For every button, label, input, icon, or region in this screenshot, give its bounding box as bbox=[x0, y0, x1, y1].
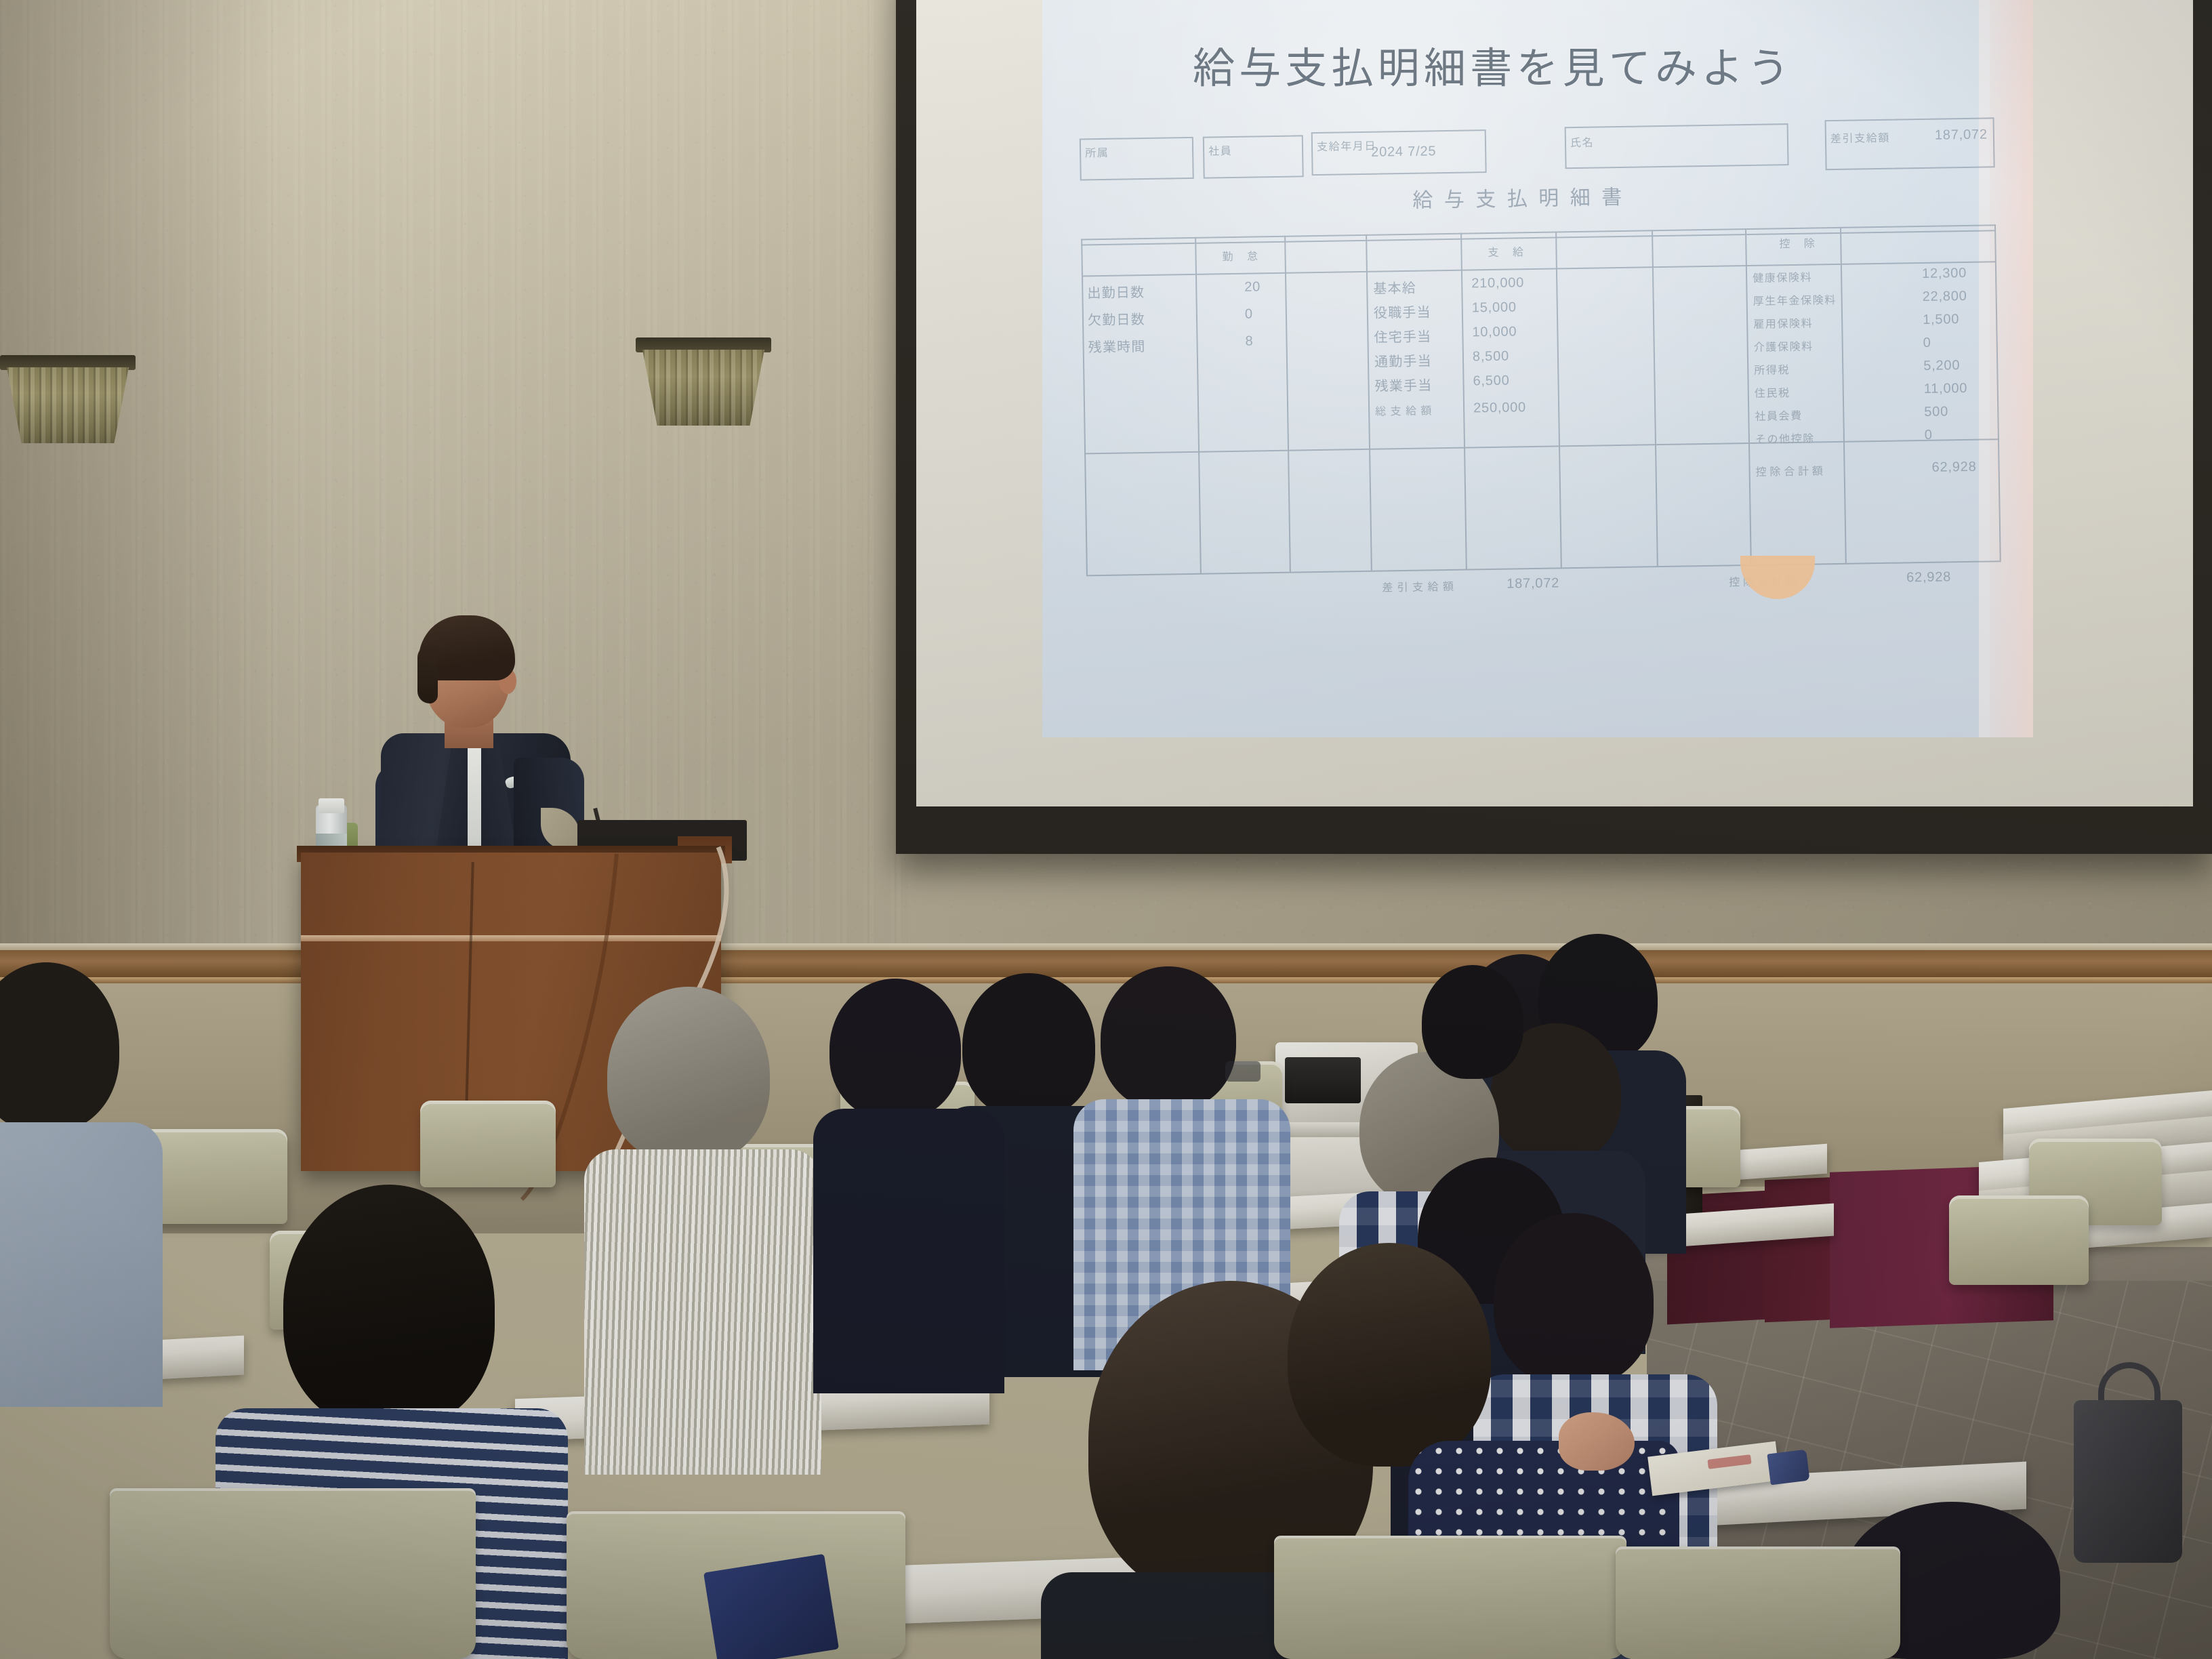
person-torso bbox=[584, 1149, 821, 1475]
person-head bbox=[962, 973, 1095, 1118]
eyeglasses-temple-icon bbox=[1225, 1061, 1261, 1082]
chair-seat bbox=[110, 1488, 476, 1659]
person-head bbox=[607, 987, 770, 1164]
payslip-name-box bbox=[1565, 123, 1789, 169]
payslip-ded-total-value: 62,928 bbox=[1931, 459, 1976, 476]
payslip-net-total-value: 187,072 bbox=[1507, 575, 1559, 592]
payslip-ded-value: 12,300 bbox=[1922, 266, 1967, 282]
person-head bbox=[283, 1185, 495, 1429]
payslip-group-attendance: 勤 怠 bbox=[1222, 247, 1263, 264]
payslip-group-deduction: 控 除 bbox=[1779, 234, 1820, 251]
payslip-ded-value: 0 bbox=[1923, 335, 1931, 351]
payslip-net-value: 187,072 bbox=[1935, 127, 1988, 143]
payslip-pay-value: 210,000 bbox=[1471, 275, 1524, 291]
chair bbox=[420, 1101, 556, 1187]
payslip-net-label: 差引支給額 bbox=[1830, 129, 1890, 146]
payslip-pay-label: 残業手当 bbox=[1374, 374, 1432, 394]
payslip-pay-label: 通勤手当 bbox=[1374, 350, 1432, 370]
payslip-net-total-label: 差引支給額 bbox=[1382, 577, 1458, 595]
sconce-fluting bbox=[642, 350, 764, 426]
payslip-pay-value: 15,000 bbox=[1472, 300, 1517, 316]
projector-lens bbox=[1285, 1057, 1361, 1103]
payslip-pay-total-label: 総支給額 bbox=[1375, 401, 1436, 418]
payslip-bottom-ded-value: 62,928 bbox=[1906, 569, 1951, 586]
payslip-ded-label: 雇用保険料 bbox=[1753, 314, 1813, 331]
person-head bbox=[1422, 965, 1523, 1079]
payslip-heading: 給与支払明細書 bbox=[1412, 180, 1633, 213]
wall-sconce-light bbox=[0, 355, 136, 447]
person-head bbox=[1494, 1213, 1654, 1387]
payslip-pay-label: 住宅手当 bbox=[1374, 325, 1431, 346]
payslip-pay-label: 役職手当 bbox=[1374, 301, 1431, 321]
payslip-pay-value: 10,000 bbox=[1472, 324, 1517, 340]
payslip-att-label: 欠勤日数 bbox=[1088, 308, 1145, 329]
payslip-dept-label: 所属 bbox=[1085, 144, 1109, 161]
lecture-hall-photo: 給与支払明細書を見てみよう 所属 社員 支給年月日 2024 7/25 氏名 差… bbox=[0, 0, 2212, 1659]
blue-item-on-desk bbox=[1767, 1450, 1809, 1486]
payslip-ded-label: 社員会費 bbox=[1755, 407, 1803, 424]
payslip-ded-value: 5,200 bbox=[1923, 358, 1960, 374]
payslip-name-label: 氏名 bbox=[1570, 134, 1595, 150]
payslip-ded-value: 22,800 bbox=[1922, 289, 1967, 305]
payslip-ded-value: 0 bbox=[1925, 428, 1933, 443]
wall-sconce-light bbox=[636, 337, 771, 429]
dark-tote-bag bbox=[2074, 1400, 2182, 1563]
payslip-ded-label: 所得税 bbox=[1754, 361, 1790, 377]
chair-seat bbox=[1616, 1547, 1900, 1659]
payslip-att-label: 出勤日数 bbox=[1087, 281, 1145, 302]
payslip-pay-total-value: 250,000 bbox=[1473, 400, 1526, 416]
payslip-ded-label: その他控除 bbox=[1755, 429, 1815, 446]
payslip-pay-label: 基本給 bbox=[1373, 277, 1416, 298]
payslip-ded-label: 介護保険料 bbox=[1754, 337, 1814, 354]
payslip-pay-value: 6,500 bbox=[1473, 373, 1509, 390]
payslip-att-value: 8 bbox=[1245, 333, 1253, 349]
payslip-att-value: 20 bbox=[1244, 279, 1261, 295]
payslip-ded-value: 500 bbox=[1924, 404, 1948, 420]
wall-shadow bbox=[0, 0, 285, 1017]
payslip-ded-label: 厚生年金保険料 bbox=[1753, 291, 1837, 308]
payslip-paydate-label: 支給年月日 bbox=[1317, 137, 1376, 154]
payslip-att-value: 0 bbox=[1245, 306, 1253, 322]
presenter-hair-sideburn bbox=[417, 645, 438, 703]
person-head bbox=[1288, 1243, 1491, 1467]
slide-title: 給与支払明細書を見てみよう bbox=[1193, 34, 1938, 95]
person-head bbox=[1101, 966, 1236, 1110]
water-bottle-cap bbox=[319, 798, 344, 813]
blue-folder bbox=[703, 1554, 839, 1659]
payslip-ded-total-label: 控除合計額 bbox=[1755, 462, 1826, 479]
payslip-employee-label: 社員 bbox=[1208, 142, 1233, 159]
presenter-speaker bbox=[366, 610, 590, 881]
person-torso bbox=[0, 1122, 163, 1407]
sconce-fluting bbox=[7, 367, 129, 443]
payslip-ded-label: 住民税 bbox=[1755, 384, 1790, 401]
person-torso bbox=[813, 1109, 1004, 1393]
payslip-pay-value: 8,500 bbox=[1473, 349, 1509, 365]
chair-seat bbox=[1274, 1536, 1626, 1659]
payslip-paydate-value: 2024 7/25 bbox=[1371, 144, 1437, 161]
projected-slide: 給与支払明細書を見てみよう 所属 社員 支給年月日 2024 7/25 氏名 差… bbox=[1042, 0, 2033, 737]
payslip-att-label: 残業時間 bbox=[1088, 335, 1145, 356]
chair bbox=[142, 1129, 287, 1224]
payslip-document-image: 所属 社員 支給年月日 2024 7/25 氏名 差引支給額 187,072 給… bbox=[1080, 122, 1988, 597]
payslip-ded-value: 1,500 bbox=[1923, 312, 1959, 328]
payslip-group-payment: 支 給 bbox=[1488, 243, 1529, 260]
payslip-ded-value: 11,000 bbox=[1924, 381, 1968, 397]
chair bbox=[1949, 1195, 2089, 1285]
person-head bbox=[829, 979, 961, 1120]
payslip-ded-label: 健康保険料 bbox=[1753, 268, 1812, 285]
